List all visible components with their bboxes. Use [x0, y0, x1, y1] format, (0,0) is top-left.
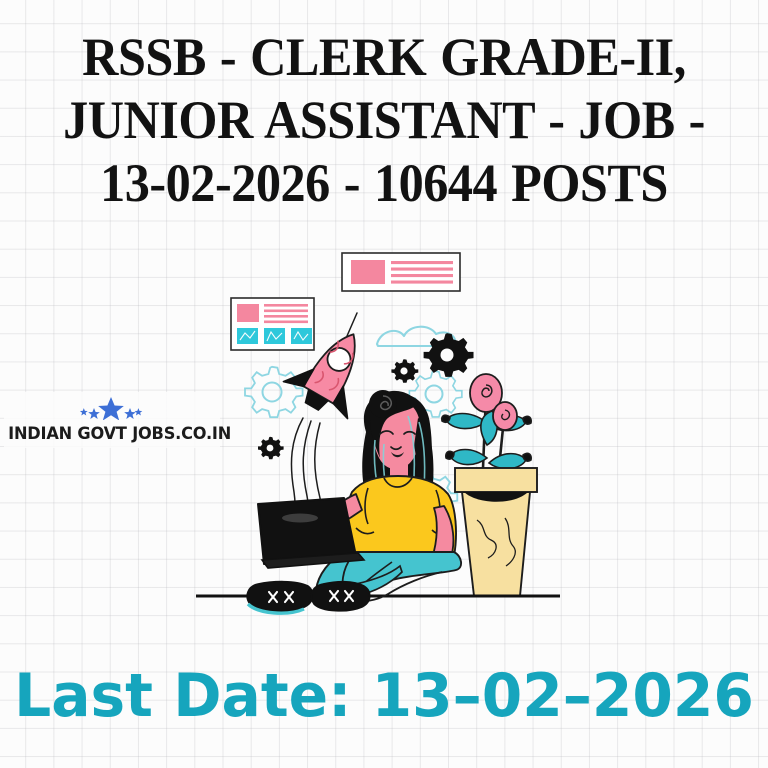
gear-outline-mid — [409, 371, 461, 417]
ui-card-top — [342, 253, 460, 291]
potted-plant — [442, 374, 537, 596]
woman-figure — [247, 390, 461, 613]
shoe-left — [247, 582, 313, 614]
gear-solid-small — [391, 359, 418, 383]
logo-text: INDIAN GOVT JOBS.CO.IN — [8, 424, 216, 443]
job-poster: RSSB - CLERK GRADE-II, JUNIOR ASSISTANT … — [0, 0, 768, 768]
poster-title-block: RSSB - CLERK GRADE-II, JUNIOR ASSISTANT … — [0, 26, 768, 216]
gear-outline-right — [398, 471, 457, 523]
laptop-icon — [258, 498, 364, 568]
cloud-icon — [377, 327, 456, 346]
shoe-right — [311, 582, 370, 611]
last-date-text: Last Date: 13–02–2026 — [12, 666, 757, 726]
rocket-icon — [279, 313, 385, 546]
last-date-block: Last Date: 13–02–2026 — [0, 666, 768, 726]
site-logo[interactable]: INDIAN GOVT JOBS.CO.IN — [4, 392, 220, 448]
gear-solid-large — [424, 333, 474, 377]
page-title: RSSB - CLERK GRADE-II, JUNIOR ASSISTANT … — [44, 26, 725, 216]
stars-icon — [6, 396, 218, 422]
gear-solid-tiny — [258, 437, 284, 459]
gear-outline-left — [245, 367, 303, 417]
ui-card-left — [231, 298, 314, 350]
